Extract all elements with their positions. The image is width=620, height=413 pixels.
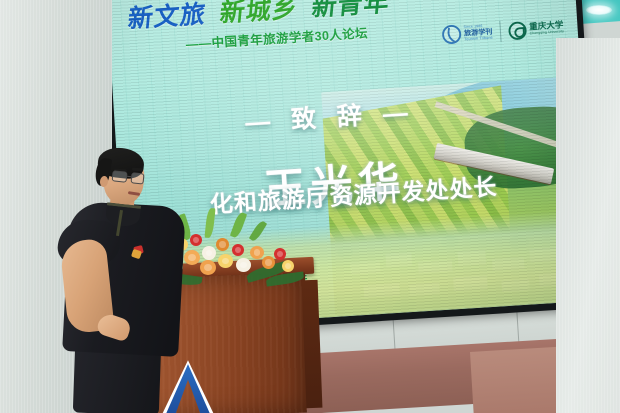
tourism-tribune-english: Tourism Tribune [464,36,493,42]
banner-phrase-2: 新城乡 [219,0,299,26]
conference-photo-scene: 新文旅新城乡新青年 ——中国青年旅游学者30人论坛 Since 1986 旅游学… [0,0,620,413]
ceiling-downlight [586,5,612,15]
logo-divider [499,21,501,42]
banner-phrase-3: 新青年 [311,0,391,20]
university-seal-icon [508,21,527,40]
tourism-tribune-globe-icon [441,24,461,44]
banner-phrase-1: 新文旅 [127,1,207,31]
speaker-person [44,148,212,413]
university-english: Chongqing University [529,30,564,36]
ribbon-badge-icon [132,246,144,262]
right-wall [556,38,620,413]
tourism-tribune-logo: Since 1986 旅游学刊 Tourism Tribune [441,22,492,44]
chongqing-university-logo: 重庆大学 Chongqing University [508,18,564,39]
